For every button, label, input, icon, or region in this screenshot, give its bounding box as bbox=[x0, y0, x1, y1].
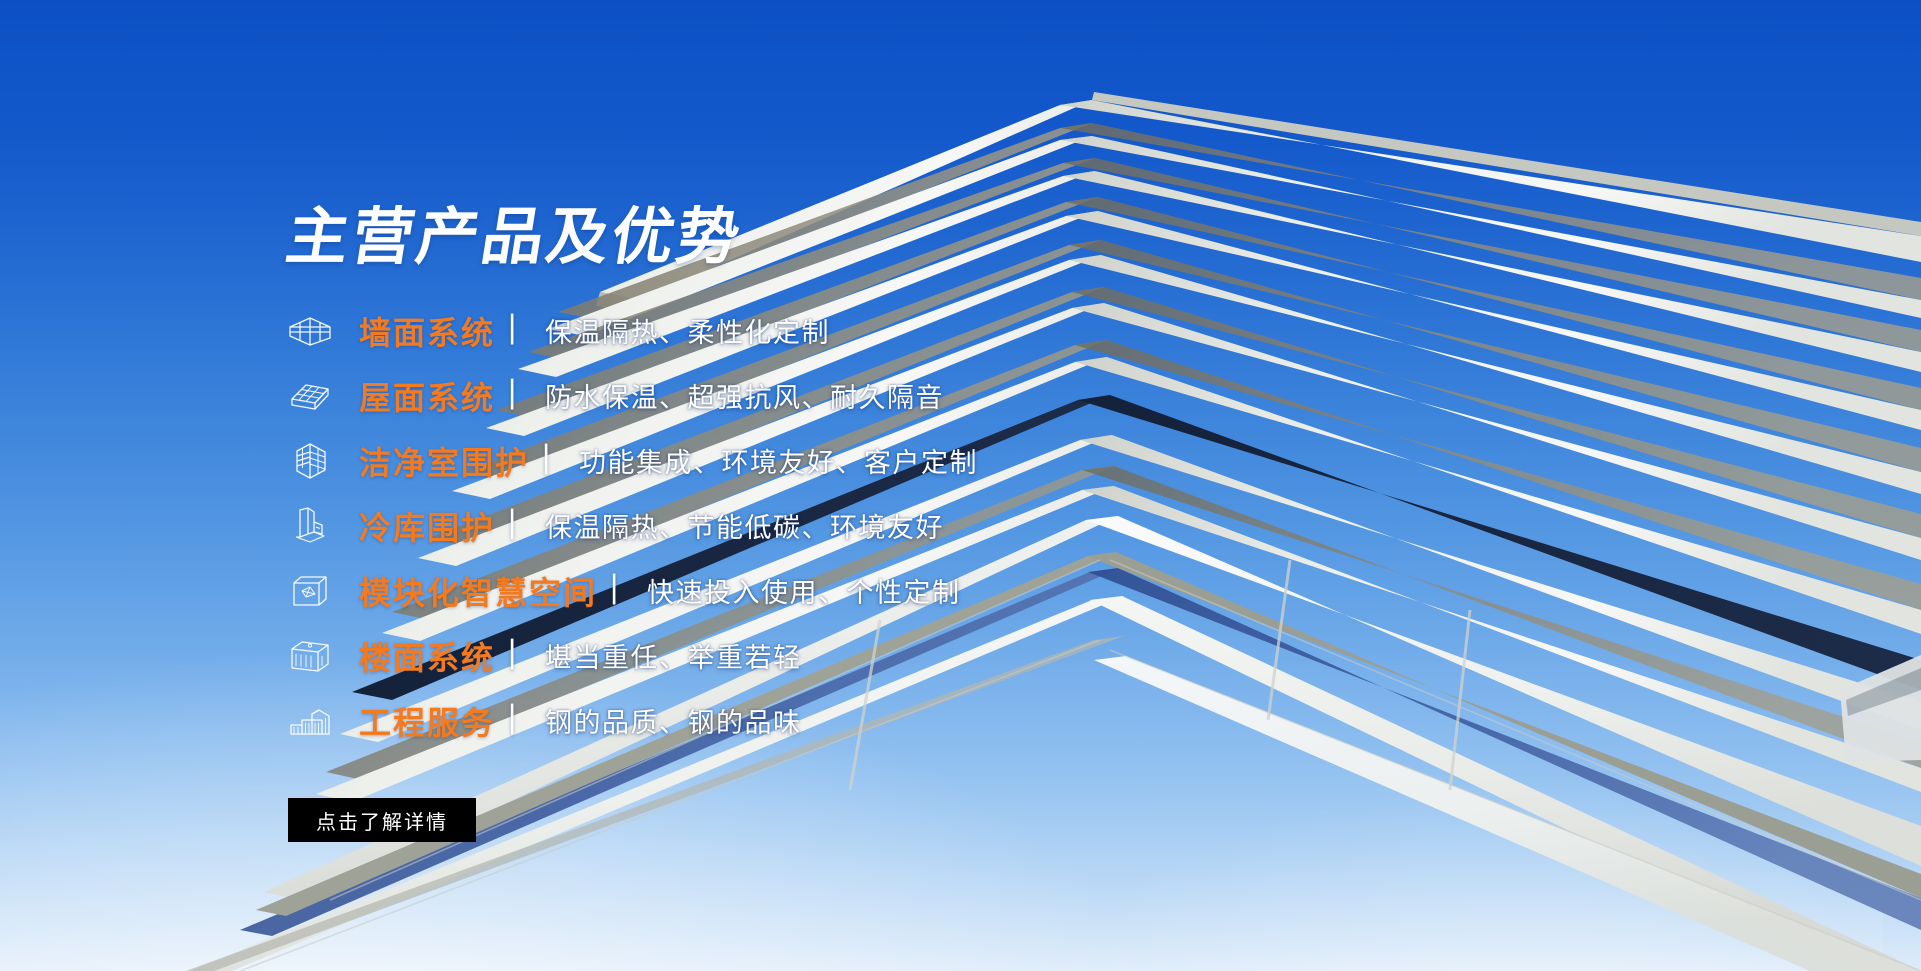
item-description: 防水保温、超强抗风、耐久隔音 bbox=[545, 376, 944, 415]
item-separator: ▏ bbox=[511, 316, 531, 342]
item-title: 冷库围护 bbox=[359, 503, 495, 549]
page-title: 主营产品及优势 bbox=[282, 206, 747, 268]
product-list: 墙面系统 ▏ 保温隔热、柔性化定制 屋面系统 bbox=[287, 298, 1287, 753]
list-item[interactable]: 洁净室围护 ▏ 功能集成、环境友好、客户定制 bbox=[287, 428, 1287, 493]
wall-panel-icon bbox=[287, 308, 333, 354]
item-description: 钢的品质、钢的品味 bbox=[545, 701, 802, 740]
item-title: 楼面系统 bbox=[359, 633, 495, 679]
list-item[interactable]: 冷库围护 ▏ 保温隔热、节能低碳、环境友好 bbox=[287, 493, 1287, 558]
list-item[interactable]: 模块化智慧空间 ▏ 快速投入使用、个性定制 bbox=[287, 558, 1287, 623]
item-description: 快速投入使用、个性定制 bbox=[647, 571, 961, 610]
list-item[interactable]: 工程服务 ▏ 钢的品质、钢的品味 bbox=[287, 688, 1287, 753]
item-description: 功能集成、环境友好、客户定制 bbox=[579, 441, 978, 480]
item-description: 保温隔热、节能低碳、环境友好 bbox=[545, 506, 944, 545]
item-title: 工程服务 bbox=[359, 698, 495, 744]
item-separator: ▏ bbox=[511, 381, 531, 407]
engineering-service-icon bbox=[287, 698, 333, 744]
item-description: 保温隔热、柔性化定制 bbox=[545, 311, 830, 350]
roof-panel-icon bbox=[287, 373, 333, 419]
banner-content: 主营产品及优势 墙面系统 ▏ 保温隔热、柔性化定制 bbox=[0, 0, 1921, 971]
cold-storage-icon bbox=[287, 503, 333, 549]
item-separator: ▏ bbox=[511, 511, 531, 537]
list-item[interactable]: 屋面系统 ▏ 防水保温、超强抗风、耐久隔音 bbox=[287, 363, 1287, 428]
item-title: 墙面系统 bbox=[359, 308, 495, 354]
modular-space-icon bbox=[287, 568, 333, 614]
item-description: 堪当重任、举重若轻 bbox=[545, 636, 802, 675]
item-title: 模块化智慧空间 bbox=[359, 568, 597, 614]
learn-more-button[interactable]: 点击了解详情 bbox=[288, 798, 476, 842]
item-separator: ▏ bbox=[545, 446, 565, 472]
item-separator: ▏ bbox=[511, 641, 531, 667]
item-separator: ▏ bbox=[613, 576, 633, 602]
item-title: 洁净室围护 bbox=[359, 438, 529, 484]
list-item[interactable]: 墙面系统 ▏ 保温隔热、柔性化定制 bbox=[287, 298, 1287, 363]
floor-system-icon bbox=[287, 633, 333, 679]
cleanroom-building-icon bbox=[287, 438, 333, 484]
list-item[interactable]: 楼面系统 ▏ 堪当重任、举重若轻 bbox=[287, 623, 1287, 688]
promo-banner: 主营产品及优势 墙面系统 ▏ 保温隔热、柔性化定制 bbox=[0, 0, 1921, 971]
item-separator: ▏ bbox=[511, 706, 531, 732]
item-title: 屋面系统 bbox=[359, 373, 495, 419]
